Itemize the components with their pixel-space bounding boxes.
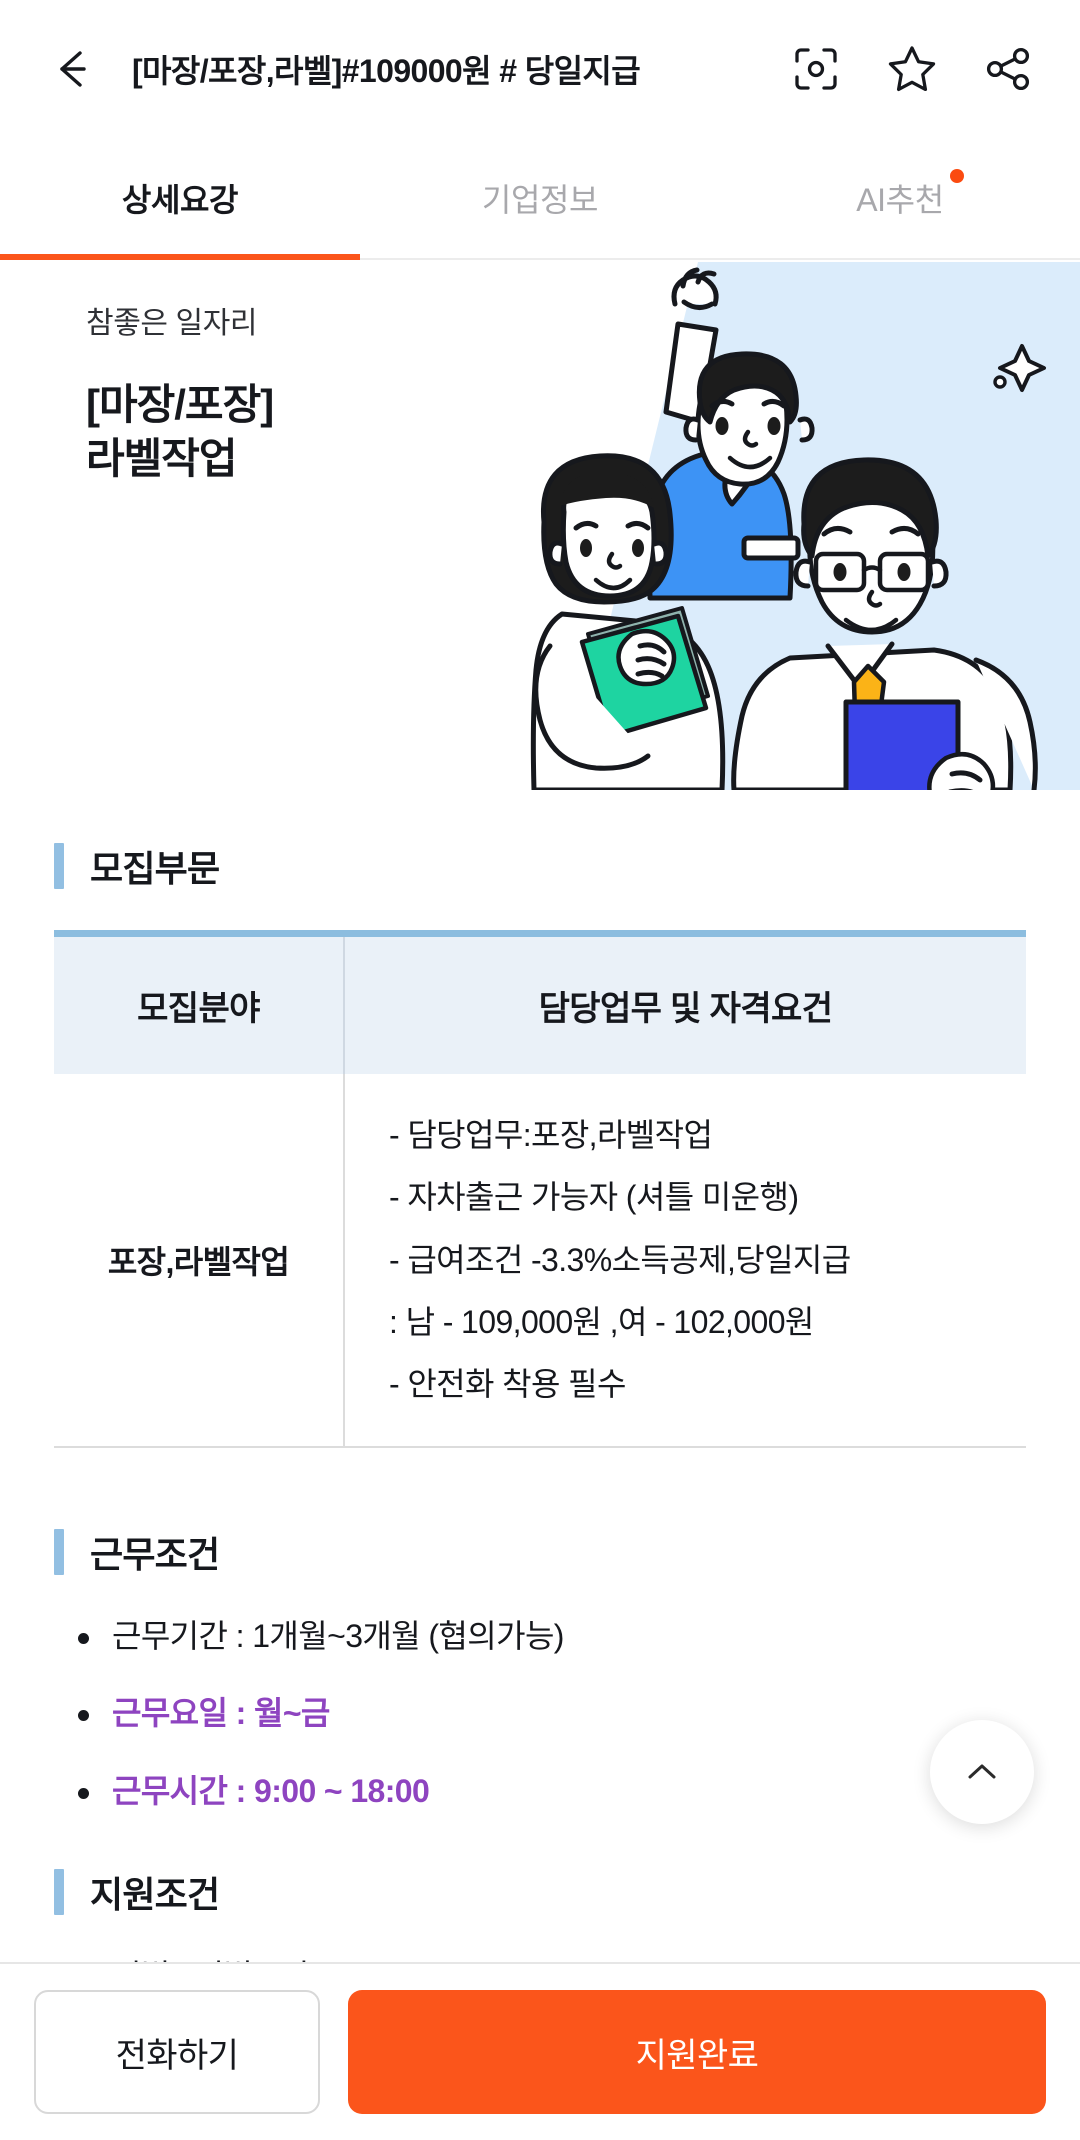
- back-button[interactable]: [26, 21, 122, 117]
- table-header-row: 모집분야 담당업무 및 자격요건: [54, 937, 1026, 1074]
- table-row: 포장,라벨작업 - 담당업무:포장,라벨작업 - 자차출근 가능자 (셔틀 미운…: [54, 1074, 1026, 1447]
- table-cell-field: 포장,라벨작업: [54, 1074, 344, 1447]
- hero-banner: 참좋은 일자리 [마장/포장] 라벨작업: [0, 262, 1080, 790]
- section-accent-bar: [54, 843, 64, 889]
- app-bar: [마장/포장,라벨]#109000원 # 당일지급: [0, 0, 1080, 138]
- new-badge-dot-icon: [950, 169, 964, 183]
- section-title-apply: 지원조건: [90, 1866, 219, 1918]
- appbar-actions: [782, 35, 1080, 103]
- description-line: : 남 - 109,000원 ,여 - 102,000원: [389, 1291, 1002, 1353]
- section-header-conditions: 근무조건: [0, 1526, 1080, 1578]
- description-line: - 담당업무:포장,라벨작업: [389, 1104, 1002, 1166]
- list-item: 근무기간 : 1개월~3개월 (협의가능): [72, 1616, 1026, 1658]
- scan-icon: [791, 44, 841, 94]
- tab-details-label: 상세요강: [122, 175, 238, 221]
- share-button[interactable]: [974, 35, 1042, 103]
- page-title: [마장/포장,라벨]#109000원 # 당일지급: [122, 46, 782, 92]
- recruit-table: 모집분야 담당업무 및 자격요건 포장,라벨작업 - 담당업무:포장,라벨작업 …: [54, 937, 1026, 1448]
- bottom-action-bar: 전화하기 지원완료: [0, 1962, 1080, 2140]
- tab-ai-recommend-label: AI추천: [856, 175, 944, 221]
- apply-button[interactable]: 지원완료: [348, 1990, 1046, 2114]
- conditions-list: 근무기간 : 1개월~3개월 (협의가능) 근무요일 : 월~금 근무시간 : …: [72, 1616, 1026, 1813]
- hero-title: [마장/포장] 라벨작업: [86, 378, 273, 486]
- recruit-table-head: 모집분야 담당업무 및 자격요건: [54, 937, 1026, 1074]
- table-cell-description: - 담당업무:포장,라벨작업 - 자차출근 가능자 (셔틀 미운행) - 급여조…: [344, 1074, 1026, 1447]
- bookmark-button[interactable]: [878, 35, 946, 103]
- section-header-recruit: 모집부문: [0, 840, 1080, 892]
- recruit-table-body: 포장,라벨작업 - 담당업무:포장,라벨작업 - 자차출근 가능자 (셔틀 미운…: [54, 1074, 1026, 1447]
- section-title-recruit: 모집부문: [90, 840, 219, 892]
- job-detail-screen: [마장/포장,라벨]#109000원 # 당일지급: [0, 0, 1080, 2140]
- description-line: - 안전화 착용 필수: [389, 1353, 1002, 1415]
- section-header-apply: 지원조건: [0, 1866, 1080, 1918]
- section-title-conditions: 근무조건: [90, 1526, 219, 1578]
- tab-active-indicator: [0, 254, 360, 260]
- list-item: 근무시간 : 9:00 ~ 18:00: [72, 1771, 1026, 1813]
- star-icon: [885, 42, 939, 96]
- arrow-left-icon: [46, 41, 102, 97]
- section-accent-bar: [54, 1869, 64, 1915]
- section-accent-bar: [54, 1529, 64, 1575]
- recruit-table-wrapper: 모집분야 담당업무 및 자격요건 포장,라벨작업 - 담당업무:포장,라벨작업 …: [54, 930, 1026, 1448]
- tab-company-info[interactable]: 기업정보: [360, 138, 720, 258]
- description-line: - 급여조건 -3.3%소득공제,당일지급: [389, 1229, 1002, 1291]
- detail-content: 모집부문 모집분야 담당업무 및 자격요건 포장,라벨작업 - 담당업무:포장,…: [0, 790, 1080, 2034]
- tab-ai-recommend[interactable]: AI추천: [720, 138, 1080, 258]
- table-header-description: 담당업무 및 자격요건: [344, 937, 1026, 1074]
- chevron-up-icon: [959, 1749, 1005, 1795]
- hero-text-block: 참좋은 일자리 [마장/포장] 라벨작업: [86, 298, 273, 486]
- description-line: - 자차출근 가능자 (셔틀 미운행): [389, 1166, 1002, 1228]
- tab-details[interactable]: 상세요강: [0, 138, 360, 258]
- tab-company-info-label: 기업정보: [482, 175, 598, 221]
- scroll-to-top-button[interactable]: [930, 1720, 1034, 1824]
- tab-bar: 상세요강 기업정보 AI추천: [0, 138, 1080, 260]
- call-button[interactable]: 전화하기: [34, 1990, 320, 2114]
- hero-illustration: [528, 262, 1080, 790]
- list-item: 근무요일 : 월~금: [72, 1693, 1026, 1735]
- three-workers-illustration: [528, 262, 1080, 790]
- share-icon: [982, 43, 1034, 95]
- hero-subtitle: 참좋은 일자리: [86, 298, 273, 342]
- scan-button[interactable]: [782, 35, 850, 103]
- table-header-field: 모집분야: [54, 937, 344, 1074]
